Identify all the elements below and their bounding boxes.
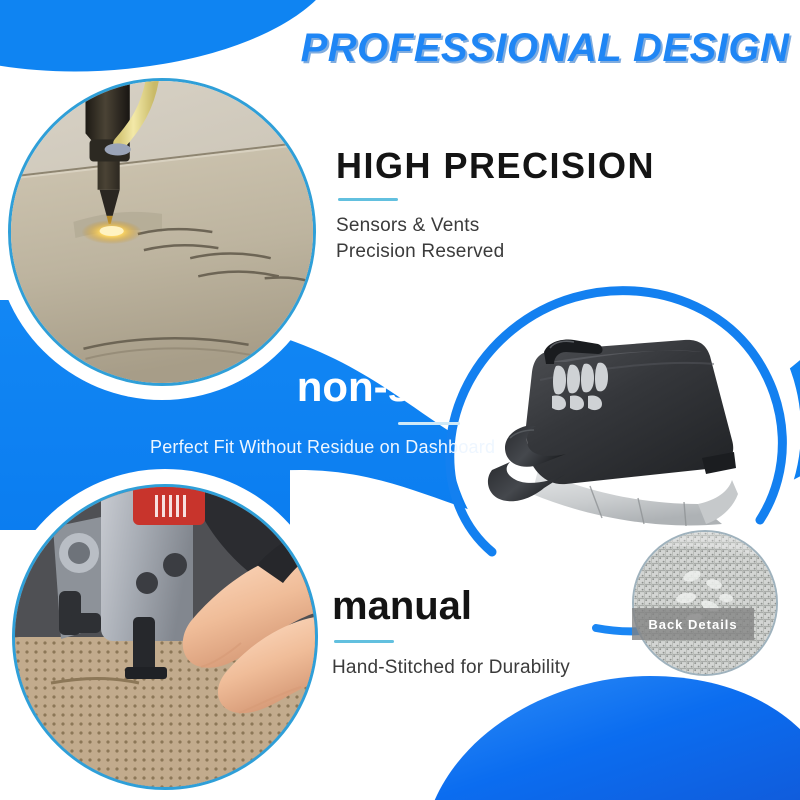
back-details-closeup xyxy=(632,530,778,676)
feature-high-precision: HIGH PRECISION Sensors & Vents Precision… xyxy=(336,148,655,264)
mesh-texture-illustration xyxy=(634,532,778,676)
bottom-right-blue-blob xyxy=(430,676,800,800)
back-details-label: Back Details xyxy=(632,608,754,640)
page-title: PROFESSIONAL DESIGN xyxy=(300,26,790,71)
laser-cutting-illustration xyxy=(11,81,313,383)
feature-headline: HIGH PRECISION xyxy=(336,148,655,184)
sewing-machine-illustration xyxy=(15,487,315,787)
top-left-blue-blob xyxy=(0,0,340,72)
sewing-machine-photo xyxy=(12,484,318,790)
product-dashboard-cover xyxy=(470,318,780,548)
feature-divider xyxy=(338,198,398,201)
feature-divider xyxy=(398,422,460,425)
product-infographic-poster: PROFESSIONAL DESIGN xyxy=(0,0,800,800)
feature-manual: manual Hand-Stitched for Durability xyxy=(332,586,570,681)
feature-headline: non-slip xyxy=(150,366,460,408)
feature-subtitle-line-1: Hand-Stitched for Durability xyxy=(332,655,570,681)
feature-divider xyxy=(334,640,394,643)
feature-non-slip: non-slip Perfect Fit Without Residue on … xyxy=(150,366,460,458)
feature-subtitle-line-1: Sensors & Vents xyxy=(336,213,655,239)
laser-cutting-photo xyxy=(8,78,316,386)
feature-subtitle-line-1: Perfect Fit Without Residue on Dashboard xyxy=(150,437,460,458)
feature-subtitle-line-2: Precision Reserved xyxy=(336,239,655,265)
feature-headline: manual xyxy=(332,586,570,626)
